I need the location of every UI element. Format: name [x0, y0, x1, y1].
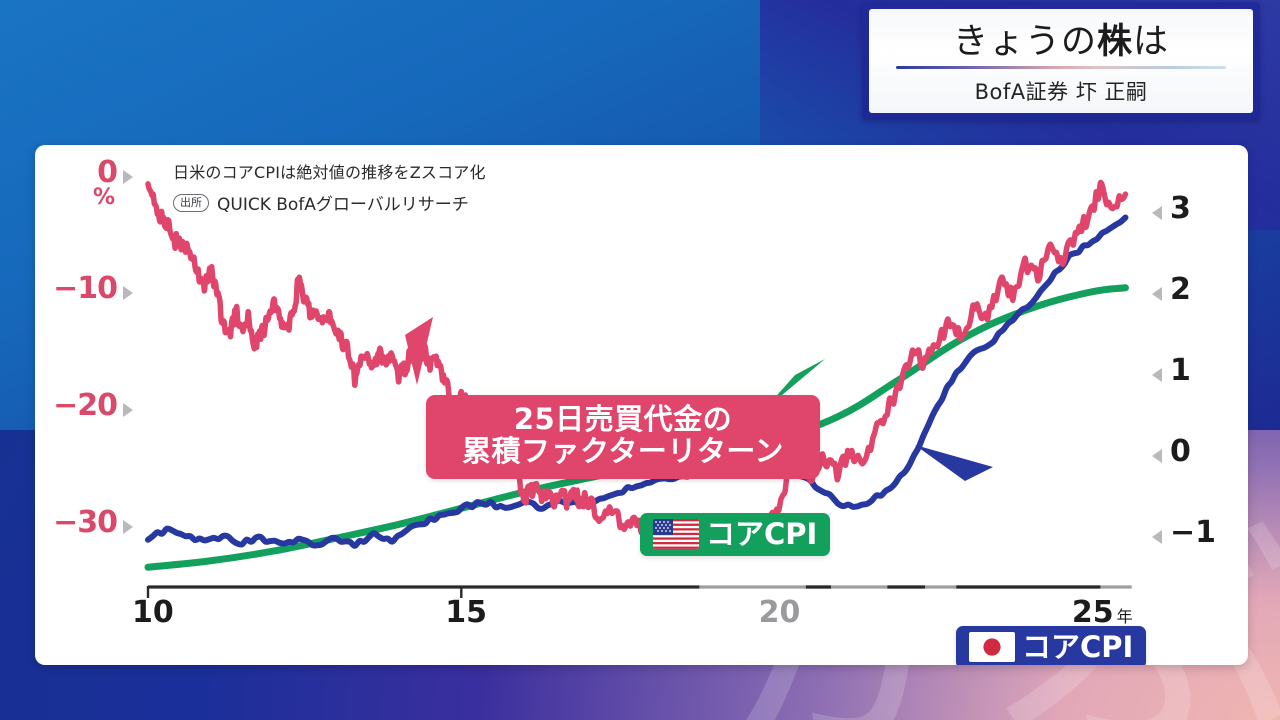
program-title-keyword: 株 [1097, 22, 1133, 62]
callout-factor-return-line2: 累積ファクターリターン [426, 435, 820, 467]
y-axis-right-tick-marker [1152, 368, 1162, 382]
japan-flag-icon [969, 632, 1015, 662]
x-axis-label-15: 15 [445, 595, 487, 630]
program-title-prefix: きょうの [953, 22, 1097, 62]
chart-card: 日米のコアCPIは絶対値の推移をZスコア化 出所 QUICK BofAグローバル… [35, 145, 1248, 665]
callout-factor-return-line1: 25日売買代金の [426, 403, 820, 435]
y-axis-right-tick-marker [1152, 530, 1162, 544]
program-title-suffix: は [1133, 22, 1169, 62]
x-axis-label-25-value: 25 [1072, 595, 1114, 630]
y-axis-left-label-30: −30 [35, 505, 117, 540]
series-japan-core-cpi [148, 218, 1125, 546]
y-axis-left-label-20: −20 [35, 388, 117, 423]
factor-return-line [148, 182, 1125, 552]
japan-core-cpi-line [148, 218, 1125, 546]
program-title-inner: きょうの株は BofA証券 圷 正嗣 [869, 9, 1253, 113]
callout-japan-core-cpi: コアCPI [956, 626, 1146, 665]
y-axis-right-tick-marker [1152, 206, 1162, 220]
y-axis-right-label-3: 3 [1170, 191, 1191, 226]
y-axis-right-label-1: 1 [1170, 353, 1191, 388]
y-axis-right-label-0: 0 [1170, 434, 1191, 469]
program-title: きょうの株は [953, 13, 1169, 64]
y-axis-left-label-10: −10 [35, 271, 117, 306]
callout-us-core-cpi-label: コアCPI [706, 520, 817, 549]
broadcast-screen: かぶ きょうの株は BofA証券 圷 正嗣 日米のコアCPIは絶対値の推移をZス… [0, 0, 1280, 720]
y-axis-left-tick-marker [123, 403, 133, 417]
y-axis-right-tick-marker [1152, 287, 1162, 301]
x-axis-label-10: 10 [132, 595, 174, 630]
callout-factor-return: 25日売買代金の 累積ファクターリターン [426, 395, 820, 479]
y-axis-left-tick-marker [123, 520, 133, 534]
x-axis-label-25: 25年 [1072, 595, 1133, 630]
title-divider [896, 66, 1226, 69]
y-axis-left-unit: % [93, 185, 115, 210]
y-axis-left-tick-marker [123, 170, 133, 184]
chart-axis-line [148, 586, 1132, 598]
callout-us-core-cpi: コアCPI [640, 513, 830, 556]
us-flag-icon [653, 519, 699, 549]
program-subtitle: BofA証券 圷 正嗣 [975, 76, 1148, 106]
y-axis-left-tick-marker [123, 286, 133, 300]
x-axis-unit-year: 年 [1117, 607, 1133, 626]
callout-japan-core-cpi-label: コアCPI [1022, 633, 1133, 662]
series-factor-return [148, 182, 1125, 552]
y-axis-right-tick-marker [1152, 449, 1162, 463]
y-axis-right-label-n1: −1 [1170, 515, 1216, 550]
x-axis-label-20: 20 [759, 595, 801, 630]
program-title-plate: きょうの株は BofA証券 圷 正嗣 [862, 2, 1260, 120]
y-axis-right-label-2: 2 [1170, 272, 1191, 307]
